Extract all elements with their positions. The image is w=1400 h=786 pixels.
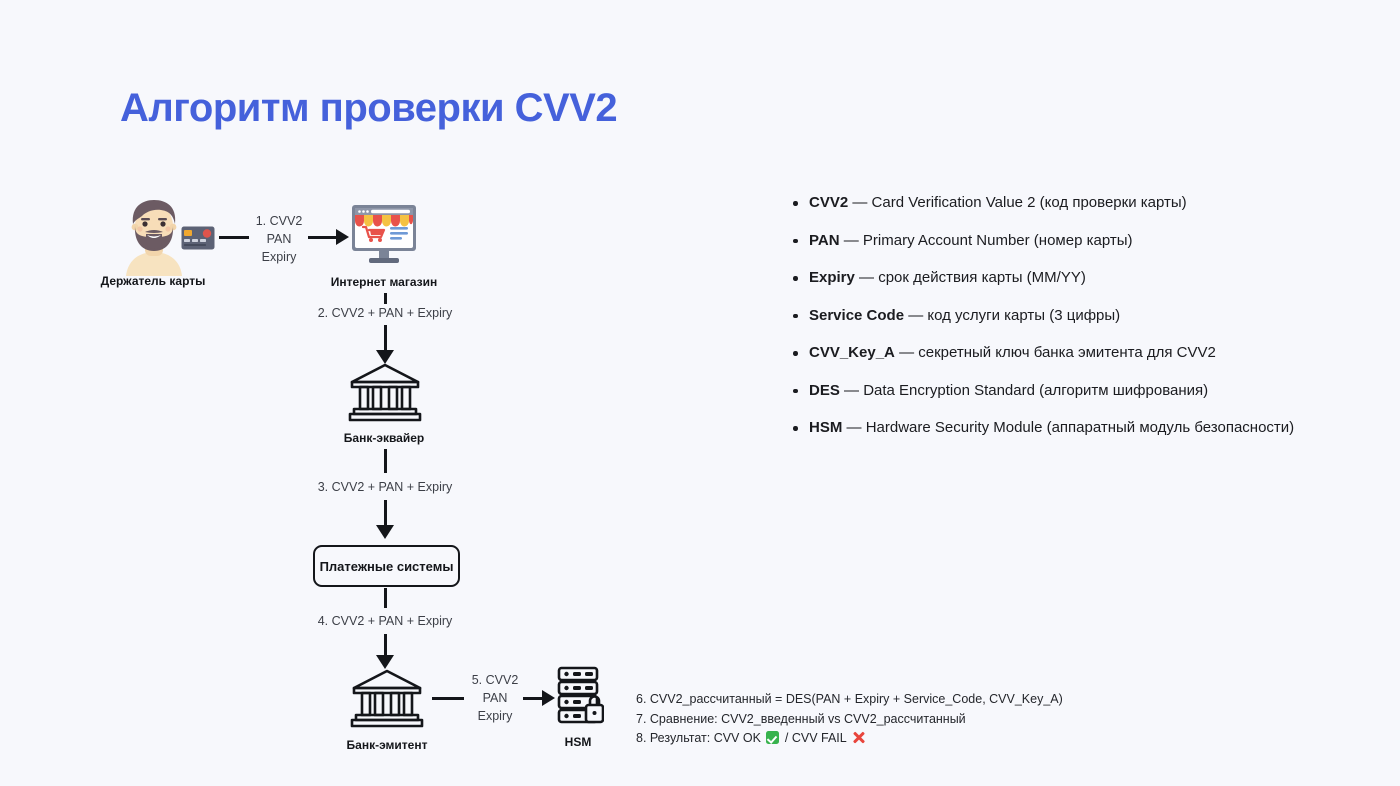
legend-term: Service Code [809,307,904,324]
check-mark-green-icon [766,731,779,744]
flow-1-line-left [219,236,249,239]
legend-definition: секретный ключ банка эмитента для CVV2 [918,344,1216,361]
legend-dash: — [899,344,914,361]
flow-3-arrowhead-icon [376,525,394,539]
flow-5-arrowhead-icon [542,690,555,706]
slide-canvas: Алгоритм проверки CVV2 [0,0,1400,786]
legend-definition: код услуги карты (3 цифры) [927,307,1120,324]
result-steps: 6. CVV2_рассчитанный = DES(PAN + Expiry … [636,690,1063,749]
flow-3-line-top [384,449,387,473]
result-step-8-prefix: 8. Результат: CVV OK [636,731,761,745]
legend-term: CVV_Key_A [809,344,895,361]
acquirer-caption: Банк-эквайер [344,431,424,445]
shop-caption: Интернет магазин [331,275,438,289]
hsm-caption: HSM [565,735,592,749]
legend-item: Service Code — код услуги карты (3 цифры… [790,306,1360,326]
result-step-8: 8. Результат: CVV OK / CVV FAIL [636,729,1063,749]
flow-5-line-right [523,697,544,700]
bank-building-icon-acquirer [348,362,422,429]
flow-4-line-top [384,588,387,608]
legend-definition: Card Verification Value 2 (код проверки … [872,194,1187,211]
legend-item: HSM — Hardware Security Module (аппаратн… [790,418,1360,438]
flow-4-label: 4. CVV2 + PAN + Expiry [318,612,453,630]
legend-dash: — [852,194,867,211]
cardholder-caption: Держатель карты [101,274,206,288]
cardholder-avatar-icon [118,196,190,281]
issuer-caption: Банк-эмитент [347,738,428,752]
legend-dash: — [908,307,923,324]
legend-term: HSM [809,419,842,436]
legend-list: CVV2 — Card Verification Value 2 (код пр… [790,193,1360,456]
legend-item: CVV_Key_A — секретный ключ банка эмитент… [790,343,1360,363]
result-step-7: 7. Сравнение: CVV2_введенный vs CVV2_рас… [636,710,1063,730]
legend-definition: Primary Account Number (номер карты) [863,232,1133,249]
legend-definition: Data Encryption Standard (алгоритм шифро… [863,382,1208,399]
legend-term: PAN [809,232,840,249]
legend-item: PAN — Primary Account Number (номер карт… [790,231,1360,251]
legend-term: DES [809,382,840,399]
payment-systems-box[interactable]: Платежные системы [313,545,460,587]
legend-dash: — [844,232,859,249]
legend-dash: — [847,419,862,436]
cross-mark-red-icon [852,731,865,744]
flow-1-line-right [308,236,338,239]
result-step-6: 6. CVV2_рассчитанный = DES(PAN + Expiry … [636,690,1063,710]
flow-2-label: 2. CVV2 + PAN + Expiry [318,304,453,322]
flow-4-arrowhead-icon [376,655,394,669]
flow-1-arrowhead-icon [336,229,349,245]
legend-definition: срок действия карты (MM/YY) [878,269,1086,286]
legend-item: Expiry — срок действия карты (MM/YY) [790,268,1360,288]
payment-systems-label: Платежные системы [320,559,454,574]
flow-2-line-top [384,293,387,304]
legend-dash: — [844,382,859,399]
legend-item: DES — Data Encryption Standard (алгоритм… [790,381,1360,401]
legend-definition: Hardware Security Module (аппаратный мод… [866,419,1294,436]
online-shop-monitor-icon [350,203,418,272]
page-title: Алгоритм проверки CVV2 [120,86,617,131]
hsm-server-lock-icon [556,665,604,732]
flow-5-label: 5. CVV2 PAN Expiry [466,671,524,725]
legend-item: CVV2 — Card Verification Value 2 (код пр… [790,193,1360,213]
result-step-8-mid: / CVV FAIL [785,731,846,745]
flow-5-line-left [432,697,464,700]
bank-building-icon-issuer [350,668,424,735]
flow-1-label: 1. CVV2 PAN Expiry [250,212,308,266]
legend-term: CVV2 [809,194,848,211]
flow-3-label: 3. CVV2 + PAN + Expiry [318,478,453,496]
legend-dash: — [859,269,874,286]
credit-card-icon [181,226,215,255]
legend-term: Expiry [809,269,855,286]
